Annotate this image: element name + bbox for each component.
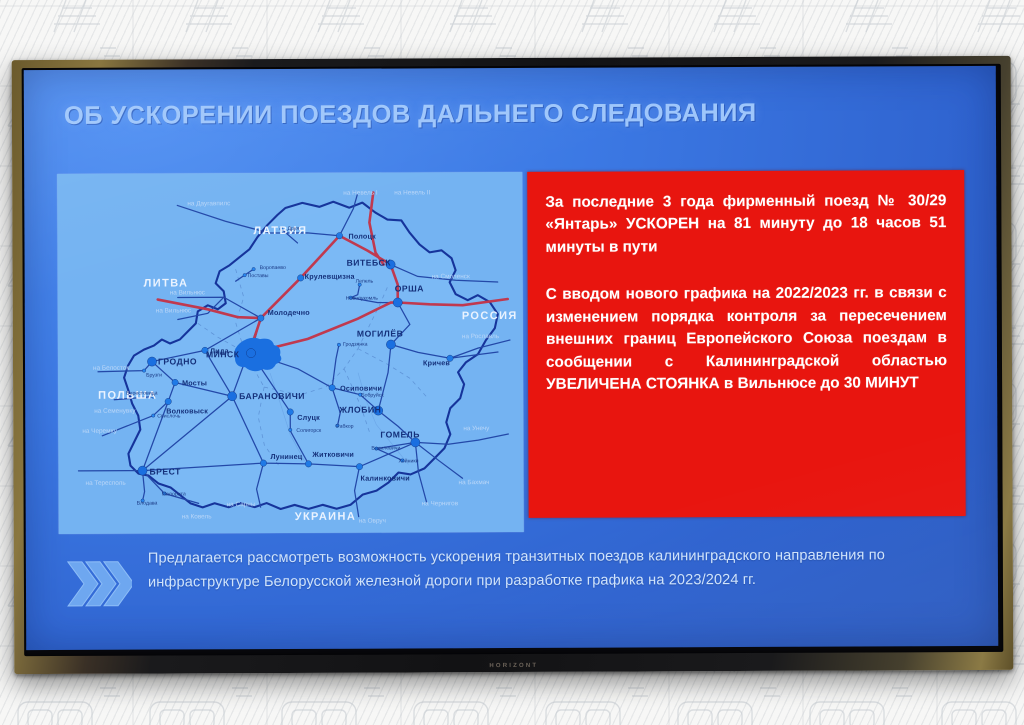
map-label: Лида <box>210 346 230 355</box>
city-marker <box>252 267 255 270</box>
map-label: МОГИЛЁВ <box>357 328 403 338</box>
city-marker <box>152 414 155 417</box>
red-callout-box: За последние 3 года фирменный поезд № 30… <box>527 170 966 518</box>
callout-paragraph-2: С вводом нового графика на 2022/2023 гг.… <box>546 283 947 397</box>
map-label: Новолукомль <box>346 296 379 302</box>
city-marker <box>393 298 402 307</box>
map-label: Василевичи <box>371 445 400 451</box>
city-marker <box>386 340 395 349</box>
map-label: на Чернигов <box>422 500 459 507</box>
map-label: РОССИЯ <box>462 310 518 322</box>
city-marker <box>172 379 178 385</box>
city-marker <box>336 233 342 239</box>
city-marker <box>356 463 362 469</box>
map-label: Рабкор <box>336 424 353 430</box>
map-label: на Унечу <box>463 425 490 432</box>
map-label: ГРОДНО <box>158 356 197 366</box>
triple-chevron-right-icon <box>66 558 132 610</box>
city-marker <box>258 315 264 321</box>
map-label: на Смоленск <box>432 273 470 280</box>
presentation-slide: ОБ УСКОРЕНИИ ПОЕЗДОВ ДАЛЬНЕГО СЛЕДОВАНИЯ <box>24 66 999 650</box>
map-label: Крулевщизна <box>305 272 356 281</box>
map-label: на Овруч <box>359 518 386 525</box>
map-label: Лепель <box>356 279 374 285</box>
map-label: Бобруйск <box>361 392 384 399</box>
map-label: Брузги <box>146 373 162 379</box>
city-marker <box>138 466 147 475</box>
footer-note: Предлагается рассмотреть возможность уск… <box>66 544 966 638</box>
map-label: Хойники <box>398 457 418 464</box>
map-label: БАРАНОВИЧИ <box>239 391 305 401</box>
city-marker <box>329 385 335 391</box>
map-label: Берестовица <box>126 391 158 397</box>
map-label: Слуцк <box>297 413 320 422</box>
map-label: Молодечно <box>268 308 310 317</box>
map-label: ЖЛОБИН <box>338 405 381 415</box>
city-marker <box>228 392 237 401</box>
map-label: на Ковель <box>182 513 213 520</box>
city-marker <box>260 460 266 466</box>
city-marker <box>297 275 303 281</box>
map-label: на Белосток <box>93 365 129 372</box>
map-label: УКРАИНА <box>295 511 357 523</box>
map-label: Полоцк <box>348 232 376 241</box>
map-label: Друя <box>287 226 299 232</box>
city-marker <box>246 349 255 358</box>
belarus-railway-map[interactable]: ЛАТВИЯЛИТВАРОССИЯПОЛЬШАУКРАИНА МИНСКВИТЕ… <box>57 172 524 534</box>
map-label: Влодава <box>137 501 158 507</box>
map-label: Поставы <box>248 273 269 279</box>
map-label: Воропаево <box>260 265 286 271</box>
room-photo: HORIZONT ОБ УСКОРЕНИИ ПОЕЗДОВ ДАЛЬНЕГО С… <box>0 0 1024 725</box>
city-marker <box>243 273 246 276</box>
map-label: Солигорск <box>296 428 322 434</box>
city-marker <box>305 461 311 467</box>
page-title: ОБ УСКОРЕНИИ ПОЕЗДОВ ДАЛЬНЕГО СЛЕДОВАНИЯ <box>64 99 757 131</box>
map-label: ОРША <box>395 283 424 293</box>
map-label: на Сарны <box>227 501 256 508</box>
city-marker <box>337 343 340 346</box>
map-label: ВИТЕБСК <box>347 258 392 268</box>
city-marker <box>289 428 292 431</box>
map-label: БРЕСТ <box>149 466 181 476</box>
map-label: на Семенувку <box>94 408 136 415</box>
map-label: на Бахмач <box>459 479 490 486</box>
map-label: Лунинец <box>270 452 302 461</box>
map-label: Гродзянка <box>343 342 368 348</box>
map-label: на Тересполь <box>86 480 127 487</box>
map-label: Осиповичи <box>340 384 382 393</box>
city-marker <box>165 398 171 404</box>
map-label: ЛИТВА <box>144 277 189 289</box>
city-marker <box>287 409 293 415</box>
map-label: ГОМЕЛЬ <box>380 429 420 439</box>
map-label: Житковичи <box>311 450 354 459</box>
map-label: на Невель II <box>394 189 430 196</box>
footer-text: Предлагается рассмотреть возможность уск… <box>148 544 963 595</box>
tv-brand-label: HORIZONT <box>14 661 1013 671</box>
map-label: на Вильнюс <box>156 307 192 314</box>
map-label: Свислочь <box>157 413 181 419</box>
city-marker <box>147 357 156 366</box>
map-label: на Вильнюс <box>170 289 206 296</box>
map-label: на Невель I <box>343 190 378 197</box>
map-label: на Рославль <box>462 333 500 340</box>
map-label: ЛАТВИЯ <box>253 225 307 237</box>
map-label: Мосты <box>182 378 207 387</box>
map-label: Калинковичи <box>361 473 410 482</box>
map-label: на Даугавпилс <box>187 200 231 207</box>
map-svg: ЛАТВИЯЛИТВАРОССИЯПОЛЬШАУКРАИНА МИНСКВИТЕ… <box>57 172 524 534</box>
map-label: Кричев <box>423 358 450 367</box>
map-label: на Черемху <box>82 428 117 435</box>
map-label: Малорита <box>162 491 186 497</box>
callout-paragraph-1: За последние 3 года фирменный поезд № 30… <box>545 190 946 259</box>
